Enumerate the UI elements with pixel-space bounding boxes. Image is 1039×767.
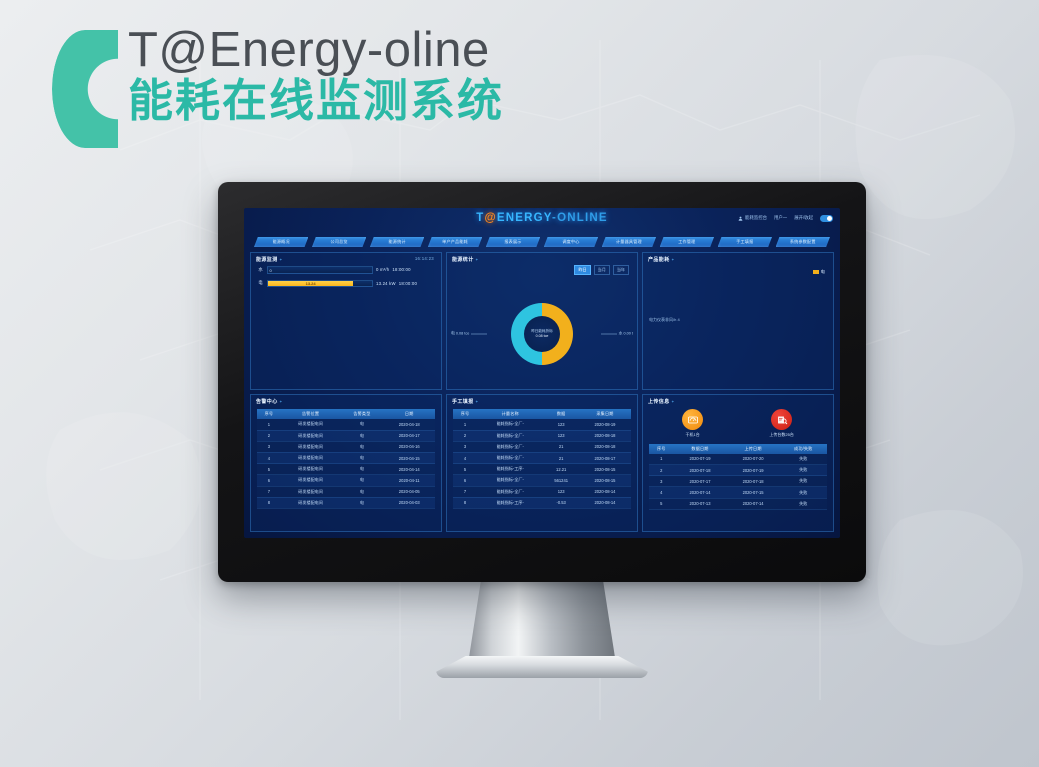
table-cell: 2020-07-15 [727, 487, 780, 498]
table-cell: 研发楼配电间 [281, 464, 341, 475]
table-cell: 电 [340, 464, 383, 475]
table-cell: 2020-08-19 [579, 419, 631, 430]
table-cell: 研发楼配电间 [281, 486, 341, 497]
panel-energy-monitor: 能源监测+ 16:14:23 水 0 0 m³/h 18:00:00 [250, 252, 442, 390]
table-cell: 2020-04-16 [383, 441, 435, 452]
donut-legend-right-text: 水 0.00 t [619, 332, 633, 337]
table-row[interactable]: 3研发楼配电间电2020-04-16 [257, 441, 435, 452]
user-role[interactable]: 用户一 [774, 215, 787, 221]
tab-this-year[interactable]: 当年 [613, 265, 629, 275]
table-cell: 能耗指标-工序- [477, 497, 543, 508]
nav-item-system-config[interactable]: 系统参数配置 [776, 237, 830, 247]
table-cell: 2020-04-03 [383, 497, 435, 508]
monitor-stand-neck [468, 578, 616, 664]
panel-title-energy-monitor: 能源监测+ [256, 256, 282, 263]
monitor-screen: T@ENERGY-ONLINE 能耗监控台 用户一 展开/收起 能源概况 [244, 208, 840, 538]
expand-plus-icon[interactable]: + [476, 399, 479, 404]
tab-yesterday[interactable]: 昨日 [574, 265, 590, 275]
table-cell: 2020-08-14 [579, 497, 631, 508]
monitor-mockup: T@ENERGY-ONLINE 能耗监控台 用户一 展开/收起 能源概况 [218, 182, 866, 582]
table-cell: 5 [257, 464, 281, 475]
alarm-table: 序号告警位置告警类型日期 1研发楼配电间电2020-04-182研发楼配电间电2… [257, 409, 435, 509]
table-cell: 2020-08-18 [579, 441, 631, 452]
nav-item-dispatch-center[interactable]: 调度中心 [544, 237, 598, 247]
table-cell: 2020-08-15 [579, 464, 631, 475]
table-cell: 3 [257, 441, 281, 452]
table-cell: 123 [543, 430, 579, 441]
column-header: 序号 [453, 409, 477, 419]
nav-item-energy-overview[interactable]: 能源概况 [254, 237, 308, 247]
table-cell: 3 [649, 476, 673, 487]
table-cell: 能耗指标-全厂- [477, 419, 543, 430]
panel-title-text: 手工填报 [452, 399, 474, 405]
table-cell: 2020-07-18 [727, 476, 780, 487]
table-cell: 2020-08-15 [579, 475, 631, 486]
dashboard: T@ENERGY-ONLINE 能耗监控台 用户一 展开/收起 能源概况 [244, 208, 840, 538]
energy-bar-track-water: 0 [267, 266, 373, 274]
monitor-stand-base [436, 656, 648, 678]
table-cell: 2020-08-17 [579, 452, 631, 463]
table-cell: 2020-04-15 [383, 452, 435, 463]
nav-item-work-management[interactable]: 工作管理 [660, 237, 714, 247]
tab-this-month[interactable]: 当月 [594, 265, 610, 275]
energy-bar-list: 水 0 0 m³/h 18:00:00 电 13.24 [257, 266, 435, 287]
table-cell: 2020-04-05 [383, 486, 435, 497]
table-row[interactable]: 4能耗指标-全厂-212020-08-17 [453, 452, 631, 463]
table-row[interactable]: 22020-07-182020-07-19失败 [649, 465, 827, 476]
brand-header: T@Energy-oline 能耗在线监测系统 [52, 24, 504, 148]
table-cell: 研发楼配电间 [281, 497, 341, 508]
expand-plus-icon[interactable]: + [280, 257, 283, 262]
donut-center-label: 昨日能耗折标 0.08 tce [511, 303, 573, 365]
upload-stats: 干机1台 [649, 409, 827, 438]
upload-table-header: 序号数据日期上传日期成功/失败 [649, 444, 827, 454]
logo-suffix: -ONLINE [552, 212, 608, 224]
meter-circle-icon [682, 409, 703, 430]
manual-table-header: 序号计量名称数据采集日期 [453, 409, 631, 419]
energy-bar-fill-electric: 13.24 [268, 281, 353, 287]
donut-legend-left-text: 电 0.08 tce [451, 332, 469, 337]
column-header: 计量名称 [477, 409, 543, 419]
table-cell: 2020-07-13 [673, 498, 726, 509]
table-row[interactable]: 42020-07-142020-07-15失败 [649, 487, 827, 498]
alarm-table-header: 序号告警位置告警类型日期 [257, 409, 435, 419]
table-cell: 失败 [780, 465, 827, 476]
table-row[interactable]: 4研发楼配电间电2020-04-15 [257, 452, 435, 463]
table-cell: 2020-07-17 [673, 476, 726, 487]
table-cell: -0.53 [543, 497, 579, 508]
table-cell: 2 [649, 465, 673, 476]
table-cell: 电 [340, 441, 383, 452]
legend-swatch-electric [813, 270, 819, 274]
table-cell: 电 [340, 497, 383, 508]
logo-main: ENERGY [497, 212, 552, 224]
donut-center-line2: 0.08 tce [536, 334, 549, 339]
energy-stats-tabs: 昨日 当月 当年 [574, 265, 629, 275]
table-cell: 2020-04-11 [383, 475, 435, 486]
document-search-icon [776, 414, 788, 426]
table-cell: 2020-07-20 [727, 454, 780, 465]
upload-stat-meters-label: 干机1台 [686, 432, 700, 438]
table-row[interactable]: 8能耗指标-工序--0.532020-08-14 [453, 497, 631, 508]
table-cell: 21 [543, 452, 579, 463]
energy-monitor-clock: 16:14:23 [415, 256, 434, 261]
table-cell: 7 [257, 486, 281, 497]
table-cell: 3 [453, 441, 477, 452]
panel-upload-info: 上传信息+ 干机1台 [642, 394, 834, 532]
panel-manual-entry: 手工填报+ 序号计量名称数据采集日期 1能耗指标-全厂-1232020-08-1… [446, 394, 638, 532]
expand-plus-icon[interactable]: + [672, 399, 675, 404]
table-row[interactable]: 12020-07-192020-07-20失败 [649, 454, 827, 465]
column-header: 序号 [257, 409, 281, 419]
product-energy-legend: 电 [813, 269, 825, 275]
table-row[interactable]: 5能耗指标-工序-12.212020-08-15 [453, 464, 631, 475]
panel-title-text: 上传信息 [648, 399, 670, 405]
upload-stat-uploaded-label: 上传台数25台 [769, 432, 793, 438]
table-cell: 5 [453, 464, 477, 475]
donut-legend-right: 水 0.00 t [601, 332, 633, 337]
dashboard-grid: 能源监测+ 16:14:23 水 0 0 m³/h 18:00:00 [244, 248, 840, 538]
donut-chart-wrap: 电 0.08 tce 昨日能耗折标 0.08 tce [447, 285, 637, 383]
energy-bar-label-electric: 电 [257, 280, 264, 286]
energy-bar-row-electric: 电 13.24 13.24 kW 18:00:00 [257, 280, 435, 288]
column-header: 序号 [649, 444, 673, 454]
table-cell: 能耗指标-全厂- [477, 441, 543, 452]
table-cell: 2020-07-14 [673, 487, 726, 498]
toggle-label: 展开/收起 [794, 215, 813, 221]
energy-bar-unit-water: 0 m³/h [376, 267, 389, 272]
table-cell: 研发楼配电间 [281, 452, 341, 463]
panel-title-text: 产品能耗 [648, 257, 670, 263]
panel-title-manual-entry: 手工填报+ [452, 398, 478, 405]
logo-at-icon: @ [484, 212, 496, 224]
table-cell: 2 [453, 430, 477, 441]
table-row[interactable]: 3能耗指标-全厂-212020-08-18 [453, 441, 631, 452]
expand-toggle-switch[interactable] [820, 215, 833, 222]
table-cell: 能耗指标-工序- [477, 464, 543, 475]
table-row[interactable]: 6能耗指标-全厂-5612412020-08-15 [453, 475, 631, 486]
table-row[interactable]: 7能耗指标-全厂-1232020-08-14 [453, 486, 631, 497]
column-header: 上传日期 [727, 444, 780, 454]
table-cell: 1 [649, 454, 673, 465]
table-cell: 2020-07-19 [673, 454, 726, 465]
nav-item-manual-entry[interactable]: 手工填报 [718, 237, 772, 247]
table-cell: 研发楼配电间 [281, 441, 341, 452]
expand-plus-icon[interactable]: + [476, 257, 479, 262]
main-navigation: 能源概况 公司总览 能源统计 单产产品能耗 报表展示 调度中心 计量器具管理 工… [244, 236, 840, 248]
nav-item-company-overview[interactable]: 公司总览 [312, 237, 366, 247]
table-cell: 电 [340, 430, 383, 441]
table-cell: 4 [257, 452, 281, 463]
table-cell: 2 [257, 430, 281, 441]
panel-title-text: 能源监测 [256, 257, 278, 263]
table-cell: 电 [340, 452, 383, 463]
gauge-icon [687, 414, 699, 426]
table-cell: 2020-07-19 [727, 465, 780, 476]
monitor-bezel: T@ENERGY-ONLINE 能耗监控台 用户一 展开/收起 能源概况 [218, 182, 866, 582]
panel-title-alarm-center: 告警中心+ [256, 398, 282, 405]
donut-legend-left: 电 0.08 tce [451, 332, 487, 337]
table-cell: 2020-08-18 [579, 430, 631, 441]
nav-item-unit-product[interactable]: 单产产品能耗 [428, 237, 482, 247]
table-cell: 1 [257, 419, 281, 430]
table-row[interactable]: 1研发楼配电间电2020-04-18 [257, 419, 435, 430]
user-profile[interactable]: 能耗监控台 [738, 215, 767, 221]
table-row[interactable]: 52020-07-132020-07-14失败 [649, 498, 827, 509]
expand-plus-icon[interactable]: + [672, 257, 675, 262]
column-header: 采集日期 [579, 409, 631, 419]
energy-bar-row-water: 水 0 0 m³/h 18:00:00 [257, 266, 435, 274]
upload-table: 序号数据日期上传日期成功/失败 12020-07-192020-07-20失败2… [649, 444, 827, 510]
table-cell: 失败 [780, 454, 827, 465]
table-cell: 21 [543, 441, 579, 452]
column-header: 成功/失败 [780, 444, 827, 454]
panel-alarm-center: 告警中心+ 序号告警位置告警类型日期 1研发楼配电间电2020-04-182研发… [250, 394, 442, 532]
energy-bar-value-water: 0 [270, 268, 272, 273]
table-cell: 电 [340, 419, 383, 430]
table-cell: 电 [340, 475, 383, 486]
nav-item-energy-stats[interactable]: 能源统计 [370, 237, 424, 247]
table-cell: 2020-04-14 [383, 464, 435, 475]
table-cell: 2020-08-14 [579, 486, 631, 497]
upload-stat-uploaded[interactable]: 上传台数25台 [769, 409, 793, 438]
panel-energy-stats: 能源统计+ 昨日 当月 当年 电 0.08 tce [446, 252, 638, 390]
manual-table-body: 1能耗指标-全厂-1232020-08-192能耗指标-全厂-1232020-0… [453, 419, 631, 508]
table-cell: 4 [649, 487, 673, 498]
energy-bar-time-water: 18:00:00 [392, 267, 410, 272]
energy-bar-unit-electric: 13.24 kW [376, 281, 396, 286]
table-cell: 2020-04-18 [383, 419, 435, 430]
table-row[interactable]: 8研发楼配电间电2020-04-03 [257, 497, 435, 508]
table-row[interactable]: 5研发楼配电间电2020-04-14 [257, 464, 435, 475]
table-cell: 研发楼配电间 [281, 430, 341, 441]
nav-item-reports[interactable]: 报表展示 [486, 237, 540, 247]
panel-product-energy: 产品能耗+ 电 电力仪表非风/h 4 [642, 252, 834, 390]
panel-title-upload-info: 上传信息+ [648, 398, 674, 405]
table-cell: 2020-07-18 [673, 465, 726, 476]
table-cell: 8 [257, 497, 281, 508]
table-cell: 1 [453, 419, 477, 430]
panel-title-energy-stats: 能源统计+ [452, 256, 478, 263]
table-cell: 5 [649, 498, 673, 509]
table-row[interactable]: 2能耗指标-全厂-1232020-08-18 [453, 430, 631, 441]
table-cell: 失败 [780, 498, 827, 509]
brand-title-chinese: 能耗在线监测系统 [128, 75, 504, 127]
column-header: 告警类型 [340, 409, 383, 419]
nav-item-meter-management[interactable]: 计量器具管理 [602, 237, 656, 247]
dashboard-logo: T@ENERGY-ONLINE [476, 212, 607, 224]
report-search-icon [771, 409, 792, 430]
energy-bar-time-electric: 18:00:00 [399, 281, 417, 286]
panel-title-text: 能源统计 [452, 257, 474, 263]
column-header: 数据 [543, 409, 579, 419]
table-cell: 研发楼配电间 [281, 419, 341, 430]
donut-chart: 昨日能耗折标 0.08 tce [511, 303, 573, 365]
table-row[interactable]: 32020-07-172020-07-18失败 [649, 476, 827, 487]
table-cell: 6 [453, 475, 477, 486]
upload-table-body: 12020-07-192020-07-20失败22020-07-182020-0… [649, 454, 827, 509]
energy-bar-label-water: 水 [257, 267, 264, 273]
table-row[interactable]: 2研发楼配电间电2020-04-17 [257, 430, 435, 441]
table-cell: 失败 [780, 476, 827, 487]
table-cell: 能耗指标-全厂- [477, 452, 543, 463]
expand-plus-icon[interactable]: + [280, 399, 283, 404]
table-cell: 2020-04-17 [383, 430, 435, 441]
user-icon [738, 216, 743, 221]
panel-title-product-energy: 产品能耗+ [648, 256, 674, 263]
user-area: 能耗监控台 用户一 展开/收起 [738, 215, 833, 222]
table-cell: 12.21 [543, 464, 579, 475]
table-cell: 2020-07-14 [727, 498, 780, 509]
table-cell: 能耗指标-全厂- [477, 475, 543, 486]
column-header: 日期 [383, 409, 435, 419]
dashboard-header: T@ENERGY-ONLINE 能耗监控台 用户一 展开/收起 [244, 208, 840, 236]
table-cell: 6 [257, 475, 281, 486]
table-cell: 能耗指标-全厂- [477, 430, 543, 441]
table-cell: 能耗指标-全厂- [477, 486, 543, 497]
table-row[interactable]: 6研发楼配电间电2020-04-11 [257, 475, 435, 486]
legend-label-electric: 电 [821, 269, 825, 275]
manual-entry-table: 序号计量名称数据采集日期 1能耗指标-全厂-1232020-08-192能耗指标… [453, 409, 631, 509]
energy-bar-track-electric: 13.24 [267, 280, 373, 288]
brand-c-ring-icon [52, 30, 118, 148]
column-header: 数据日期 [673, 444, 726, 454]
upload-stat-meters[interactable]: 干机1台 [682, 409, 703, 438]
table-cell: 123 [543, 486, 579, 497]
table-cell: 4 [453, 452, 477, 463]
user-name: 能耗监控台 [745, 215, 767, 221]
column-header: 告警位置 [281, 409, 341, 419]
brand-text-block: T@Energy-oline 能耗在线监测系统 [128, 24, 504, 127]
table-cell: 8 [453, 497, 477, 508]
table-row[interactable]: 1能耗指标-全厂-1232020-08-19 [453, 419, 631, 430]
table-cell: 123 [543, 419, 579, 430]
logo-prefix: T [476, 212, 484, 224]
table-cell: 7 [453, 486, 477, 497]
table-cell: 电 [340, 486, 383, 497]
panel-title-text: 告警中心 [256, 399, 278, 405]
brand-title-english: T@Energy-oline [128, 24, 504, 77]
table-cell: 561241 [543, 475, 579, 486]
alarm-table-body: 1研发楼配电间电2020-04-182研发楼配电间电2020-04-173研发楼… [257, 419, 435, 508]
product-energy-axis-label: 电力仪表非风/h 4 [649, 317, 680, 323]
table-row[interactable]: 7研发楼配电间电2020-04-05 [257, 486, 435, 497]
table-cell: 失败 [780, 487, 827, 498]
table-cell: 研发楼配电间 [281, 475, 341, 486]
